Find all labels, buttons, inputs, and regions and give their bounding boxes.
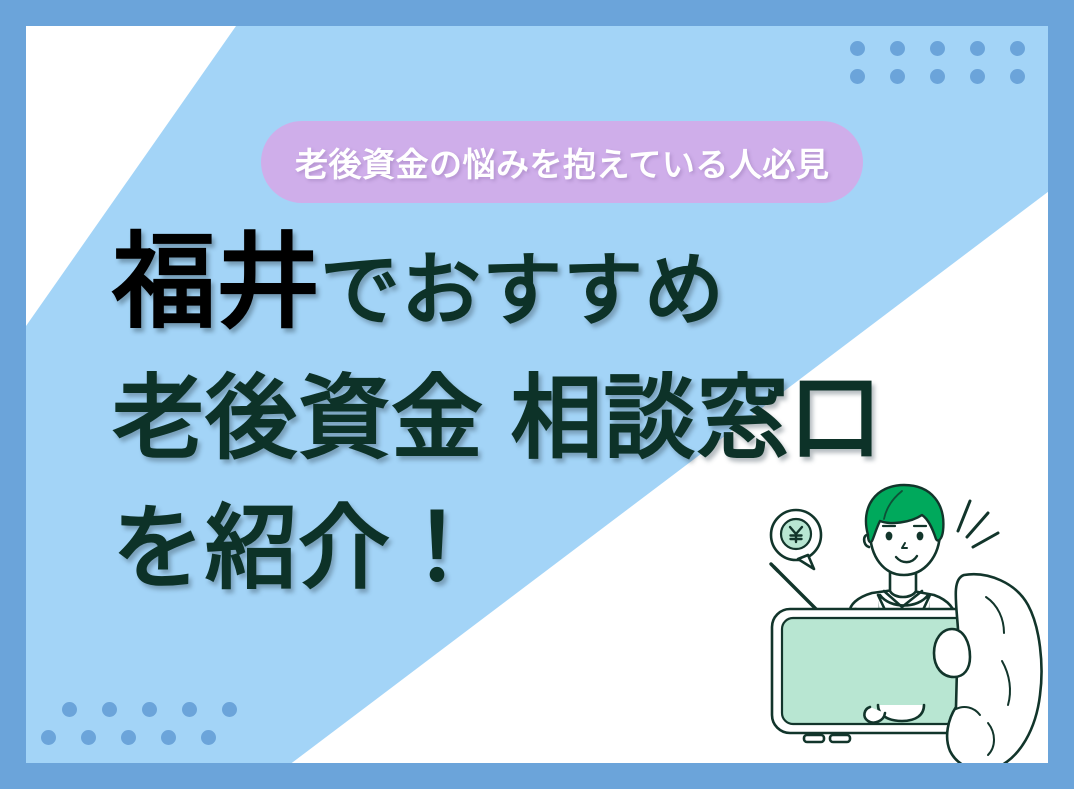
dot (930, 41, 945, 56)
dot (970, 41, 985, 56)
dot (850, 41, 865, 56)
dot (102, 702, 117, 717)
decorative-dots-top-right (829, 41, 1025, 84)
dot-row (850, 69, 1025, 84)
dot (121, 730, 136, 745)
dot (161, 730, 176, 745)
dot-row (62, 702, 237, 717)
yen-speech-bubble-icon (771, 510, 821, 569)
promo-banner: 老後資金の悩みを抱えている人必見 福井でおすすめ 老後資金 相談窓口 を紹介！ (0, 0, 1074, 789)
headline-prefecture-accent: 福井 (112, 225, 320, 341)
holding-hand (934, 574, 1042, 763)
dot (890, 69, 905, 84)
dot (850, 69, 865, 84)
advisor-illustration-svg (752, 479, 1048, 763)
dot (222, 702, 237, 717)
dot (81, 730, 96, 745)
decorative-dots-bottom-left (41, 702, 237, 745)
advisor-illustration (752, 479, 1048, 763)
eyebrow-badge-label: 老後資金の悩みを抱えている人必見 (295, 138, 829, 186)
dot (930, 69, 945, 84)
emphasis-lines (958, 501, 998, 547)
dot (62, 702, 77, 717)
eyebrow-badge: 老後資金の悩みを抱えている人必見 (261, 121, 863, 203)
headline-line-1: 福井でおすすめ (112, 231, 892, 335)
headline-line-3-text: を紹介！ (112, 498, 484, 600)
dot (182, 702, 197, 717)
dot (41, 730, 56, 745)
dot (201, 730, 216, 745)
dot-row (850, 41, 1025, 56)
headline-line-2: 老後資金 相談窓口 (112, 373, 892, 465)
dot-row (41, 730, 216, 745)
dot (890, 41, 905, 56)
dot (1010, 41, 1025, 56)
dot (142, 702, 157, 717)
dot (970, 69, 985, 84)
headline-line-2-text: 老後資金 相談窓口 (112, 368, 883, 470)
banner-canvas: 老後資金の悩みを抱えている人必見 福井でおすすめ 老後資金 相談窓口 を紹介！ (26, 26, 1048, 763)
dot (1010, 69, 1025, 84)
headline-line-1-rest: でおすすめ (320, 246, 725, 335)
advisor-head (864, 485, 943, 575)
